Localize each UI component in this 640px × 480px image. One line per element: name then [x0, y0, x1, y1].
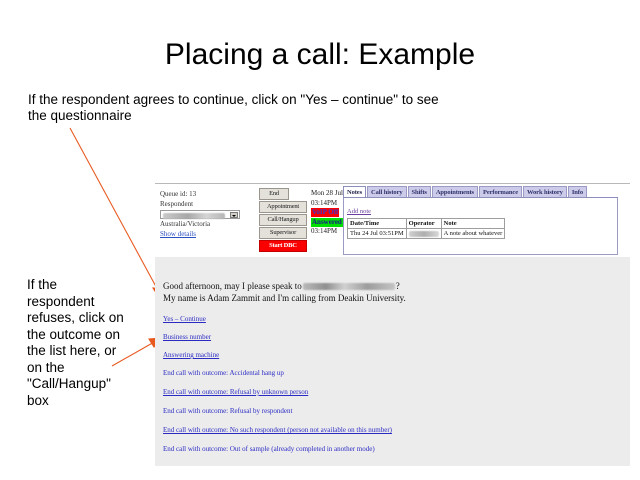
add-note-link[interactable]: Add note [347, 208, 371, 215]
respondent-select[interactable] [160, 210, 240, 219]
tab-bar: Notes Call history Shifts Appointments P… [343, 185, 618, 198]
link-outcome-accidental-hangup[interactable]: End call with outcome: Accidental hang u… [163, 369, 284, 377]
end-button[interactable]: End [259, 188, 289, 200]
respondent-name-redacted [303, 283, 395, 290]
link-outcome-out-of-sample[interactable]: End call with outcome: Out of sample (al… [163, 445, 375, 453]
supervisor-button[interactable]: Supervisor [259, 227, 307, 239]
page-title: Placing a call: Example [0, 38, 640, 72]
script-greeting: Good afternoon, may I please speak to [163, 281, 302, 291]
annotation-left: If the respondent refuses, click on the … [27, 277, 127, 409]
end-call-outcome-links: End call with outcome: Accidental hang u… [163, 369, 630, 453]
annotation-top: If the respondent agrees to continue, cl… [28, 92, 458, 124]
status-badge-voip: VoIP Off [311, 208, 339, 217]
embedded-app-screenshot: Queue id: 13 Respondent Australia/Victor… [155, 183, 630, 466]
call-info-panel: Queue id: 13 Respondent Australia/Victor… [160, 190, 255, 239]
show-details-link[interactable]: Show details [160, 230, 196, 238]
link-outcome-refusal-respondent[interactable]: End call with outcome: Refusal by respon… [163, 407, 292, 415]
arrow-to-script [70, 128, 165, 299]
primary-outcome-links: Yes – Continue Business number Answering… [163, 315, 630, 359]
timezone-label: Australia/Victoria [160, 220, 255, 230]
column-header-note: Note [441, 219, 505, 229]
queue-id-label: Queue id: 13 [160, 190, 255, 200]
appointment-button[interactable]: Appointment [259, 201, 307, 213]
call-script-area: Good afternoon, may I please speak to? M… [155, 256, 630, 464]
column-header-operator: Operator [406, 219, 441, 229]
respondent-label: Respondent [160, 200, 255, 210]
cell-operator [406, 229, 441, 239]
operator-redacted-value [409, 231, 439, 237]
tab-shifts[interactable]: Shifts [408, 186, 431, 197]
start-dbc-button[interactable]: Start DBC [259, 240, 307, 252]
notes-table: Date/Time Operator Note Thu 24 Jul 03:51… [347, 218, 505, 239]
link-outcome-refusal-unknown[interactable]: End call with outcome: Refusal by unknow… [163, 388, 308, 396]
script-greeting-end: ? [396, 281, 400, 291]
link-business-number[interactable]: Business number [163, 333, 211, 341]
call-action-buttons: End Appointment Call/Hangup Supervisor S… [259, 188, 307, 253]
tab-notes[interactable]: Notes [343, 186, 366, 197]
table-row: Thu 24 Jul 03:51PM A note about whatever [348, 229, 505, 239]
link-yes-continue[interactable]: Yes – Continue [163, 315, 206, 323]
script-line-2: My name is Adam Zammit and I'm calling f… [163, 292, 630, 304]
tab-work-history[interactable]: Work history [523, 186, 567, 197]
cell-note: A note about whatever [441, 229, 505, 239]
status-badge-answered: Answered [311, 218, 343, 227]
tab-info[interactable]: Info [568, 186, 587, 197]
respondent-redacted-value [163, 213, 225, 219]
tab-performance[interactable]: Performance [479, 186, 522, 197]
notes-panel: Notes Call history Shifts Appointments P… [343, 185, 618, 255]
tab-call-history[interactable]: Call history [367, 186, 406, 197]
column-header-datetime: Date/Time [348, 219, 407, 229]
chevron-down-icon[interactable] [230, 212, 238, 218]
tab-appointments[interactable]: Appointments [432, 186, 478, 197]
notes-tab-content: Add note Date/Time Operator Note Thu 24 … [343, 198, 618, 255]
script-line-1: Good afternoon, may I please speak to? [163, 280, 630, 292]
cell-datetime: Thu 24 Jul 03:51PM [348, 229, 407, 239]
app-control-bar: Queue id: 13 Respondent Australia/Victor… [155, 183, 630, 257]
table-header-row: Date/Time Operator Note [348, 219, 505, 229]
link-outcome-no-such-respondent[interactable]: End call with outcome: No such responden… [163, 426, 392, 434]
link-answering-machine[interactable]: Answering machine [163, 351, 219, 359]
call-hangup-button[interactable]: Call/Hangup [259, 214, 307, 226]
